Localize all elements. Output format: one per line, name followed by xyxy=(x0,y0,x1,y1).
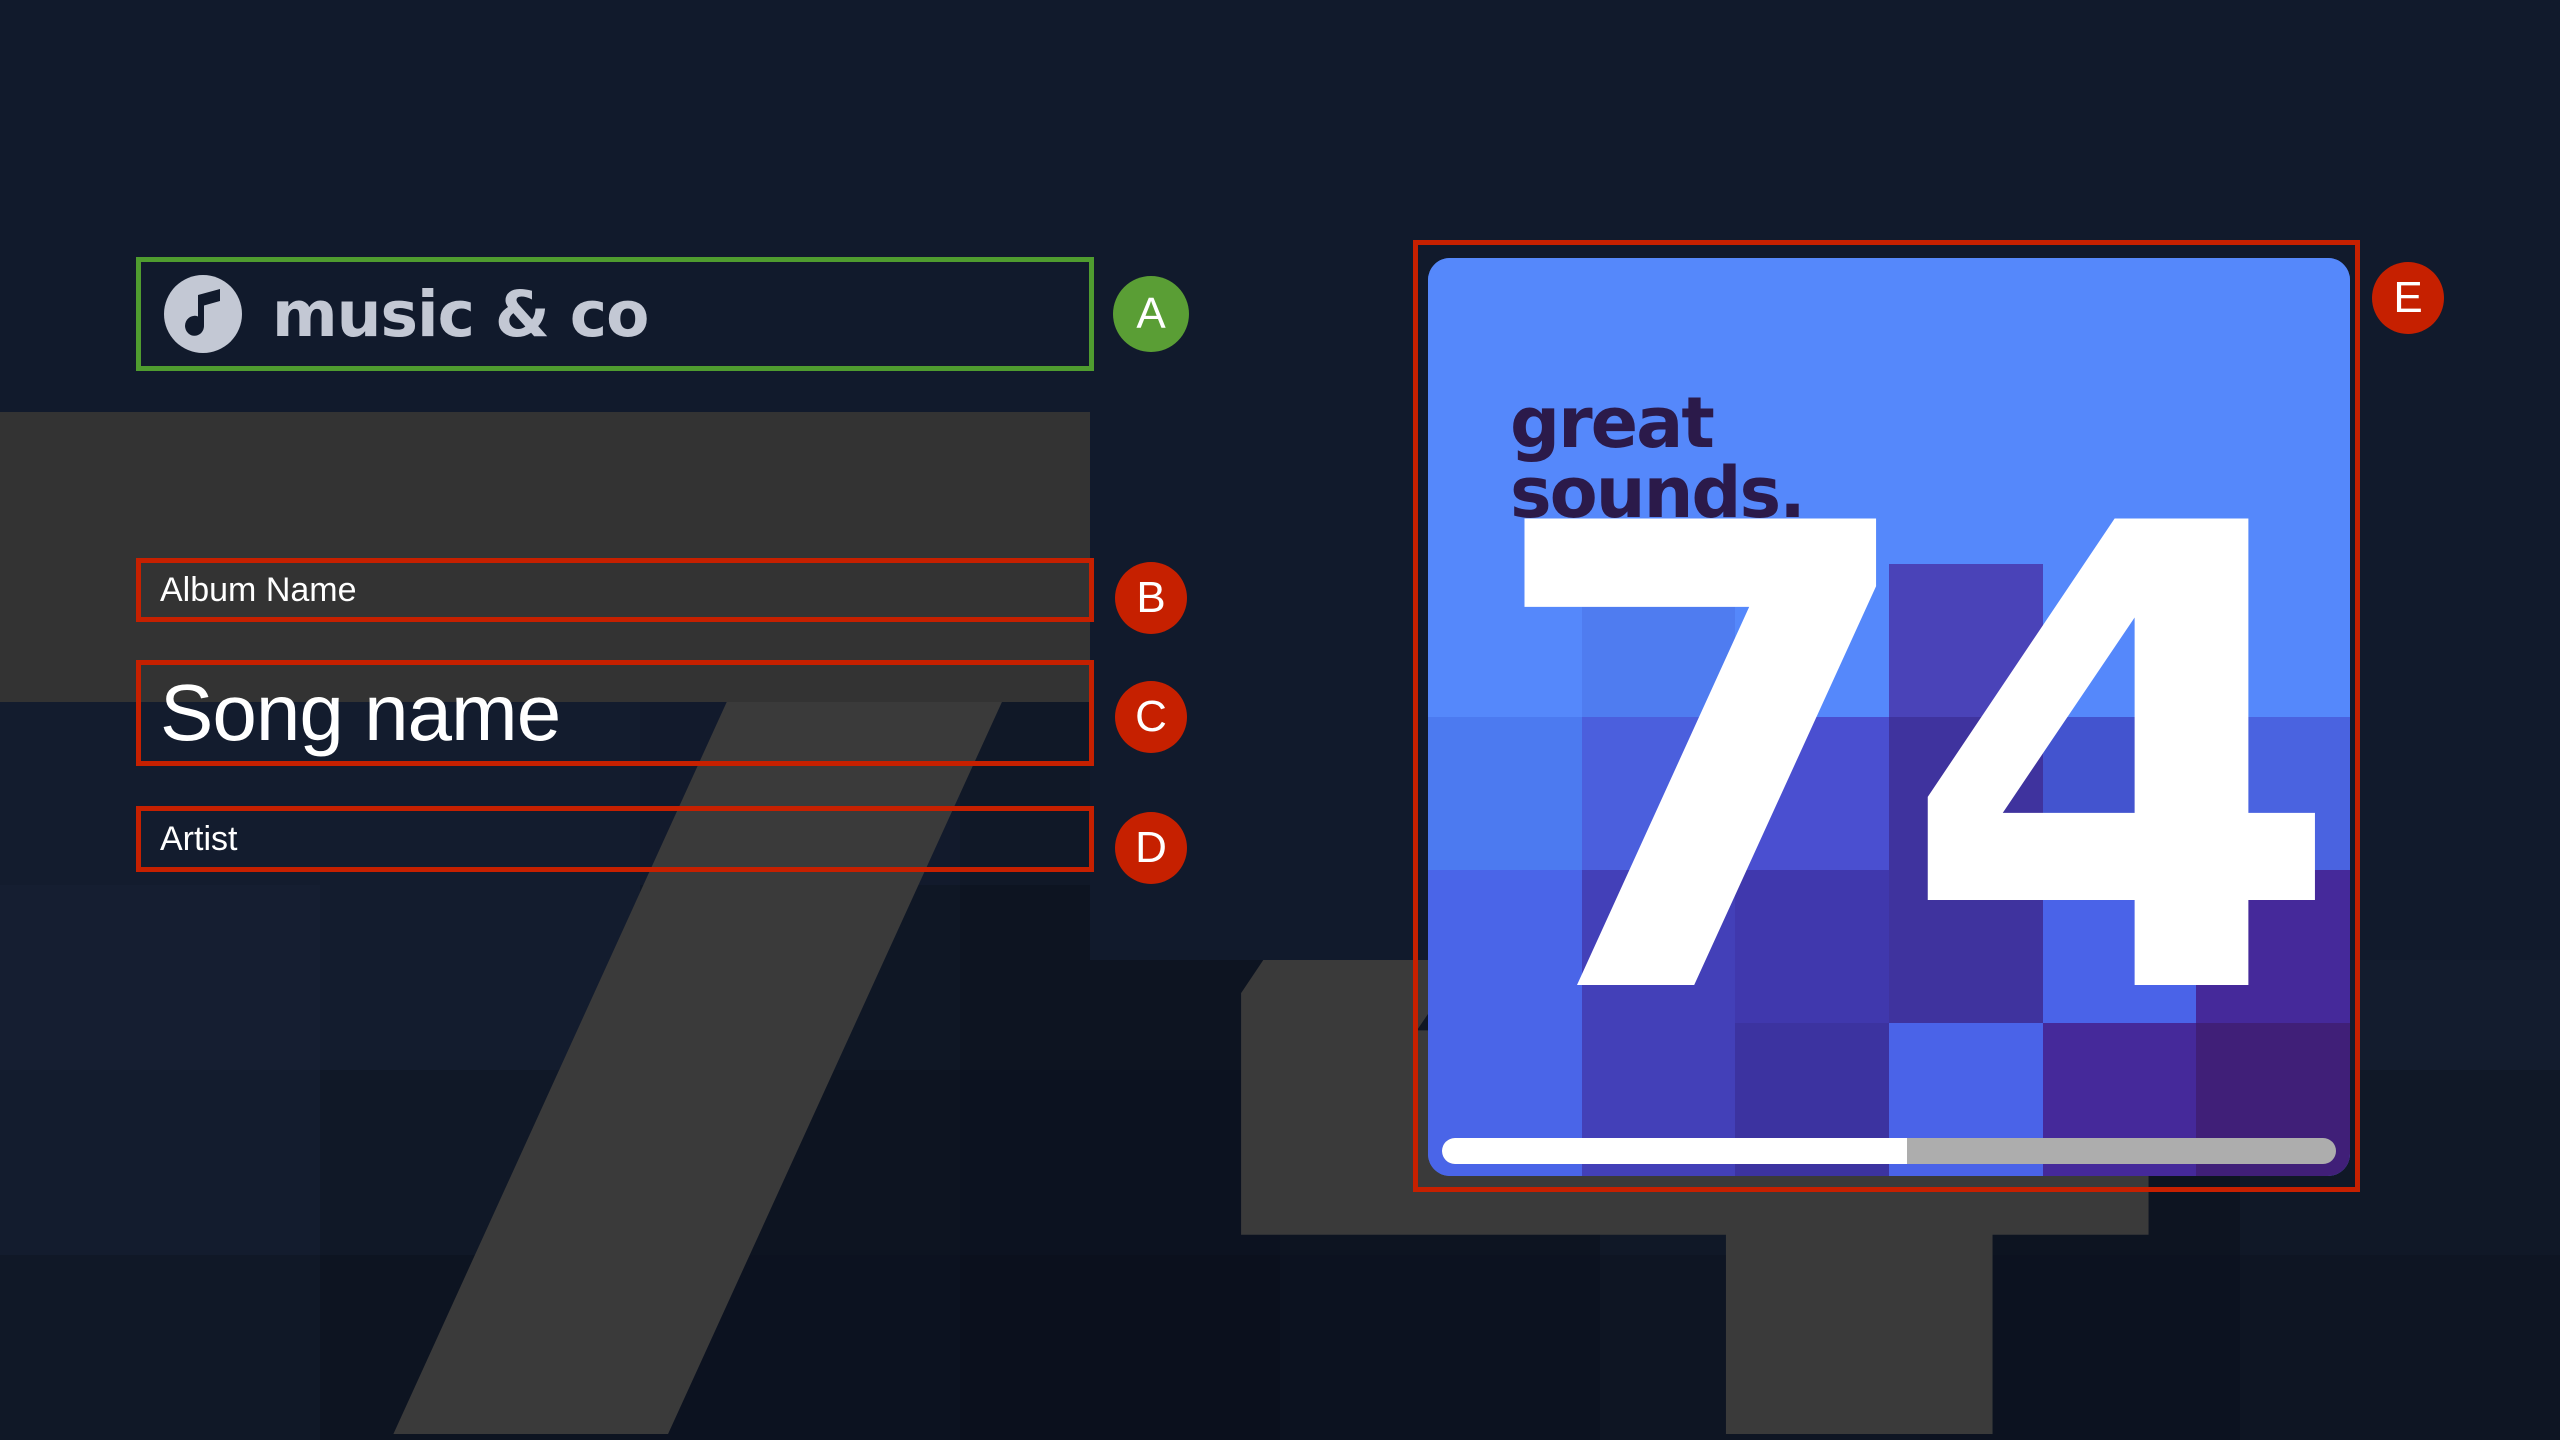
annotation-badge-b: B xyxy=(1115,562,1187,634)
music-note-circle-icon xyxy=(164,275,242,353)
album-field[interactable]: Album Name xyxy=(136,558,1094,622)
app-stage: 74 music & co Album Name Song name Artis… xyxy=(0,0,2560,1440)
background-tile xyxy=(0,885,320,1070)
background-tile xyxy=(1600,1255,1920,1440)
background-tile xyxy=(640,1070,960,1255)
background-tile xyxy=(960,1070,1280,1255)
background-tile xyxy=(1280,1255,1600,1440)
annotation-badge-e: E xyxy=(2372,262,2444,334)
annotation-badge-c: C xyxy=(1115,681,1187,753)
song-field[interactable]: Song name xyxy=(136,660,1094,766)
background-grey-panel xyxy=(0,412,1090,702)
album-name-text: Album Name xyxy=(160,571,357,610)
background-tile xyxy=(320,1070,640,1255)
album-art-tile xyxy=(1889,258,2043,411)
brand-name: music & co xyxy=(272,278,648,351)
background-tile xyxy=(320,1255,640,1440)
playback-progress-fill xyxy=(1442,1138,1907,1164)
background-tile xyxy=(2240,1255,2560,1440)
background-tile xyxy=(960,1255,1280,1440)
background-tile xyxy=(640,885,960,1070)
playback-progress-bar[interactable] xyxy=(1442,1138,2336,1164)
background-tile xyxy=(320,885,640,1070)
background-tile xyxy=(0,1070,320,1255)
album-artwork[interactable]: great sounds. 74 xyxy=(1428,258,2350,1176)
background-tile xyxy=(1920,1255,2240,1440)
artist-field[interactable]: Artist xyxy=(136,806,1094,872)
album-art-tile xyxy=(2043,258,2197,411)
brand-header[interactable]: music & co xyxy=(136,257,1094,371)
artist-name-text: Artist xyxy=(160,820,237,859)
song-name-text: Song name xyxy=(160,667,560,759)
background-tile xyxy=(640,1255,960,1440)
background-tile xyxy=(0,1255,320,1440)
annotation-badge-d: D xyxy=(1115,812,1187,884)
album-art-number: 74 xyxy=(1428,514,2350,1013)
annotation-badge-a: A xyxy=(1113,276,1189,352)
album-art-tile xyxy=(2196,258,2350,411)
